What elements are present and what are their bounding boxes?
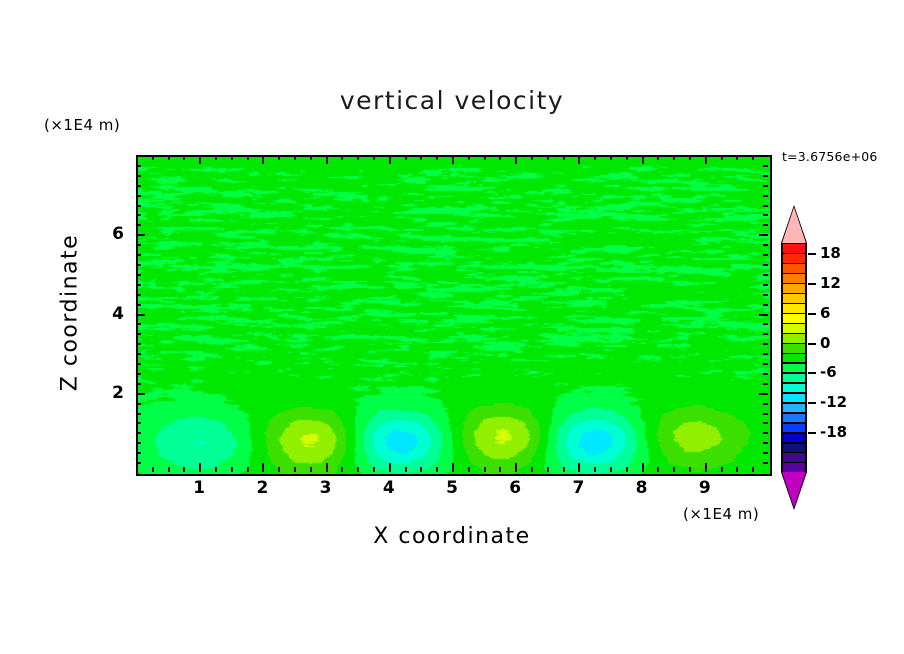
colorbar-band — [781, 243, 807, 254]
colorbar-band-divider — [781, 323, 807, 324]
colorbar-tick — [808, 432, 816, 434]
colorbar-band — [781, 313, 807, 324]
x-tick — [168, 467, 170, 472]
y-tick — [763, 264, 768, 266]
x-tick — [262, 155, 264, 164]
x-tick — [673, 467, 675, 472]
colorbar-tick-label: -12 — [820, 393, 847, 411]
x-tick — [389, 155, 391, 164]
x-tick — [626, 155, 628, 160]
x-tick — [278, 155, 280, 160]
colorbar-band-divider — [781, 412, 807, 413]
page-title: vertical velocity — [0, 86, 904, 115]
y-tick — [136, 393, 145, 395]
colorbar-band — [781, 442, 807, 453]
colorbar-band — [781, 452, 807, 463]
colorbar-tick — [808, 343, 816, 345]
x-tick — [547, 467, 549, 472]
x-tick — [578, 155, 580, 164]
x-tick — [183, 467, 185, 472]
colorbar-tick — [808, 283, 816, 285]
colorbar-tick-label: 6 — [820, 304, 830, 322]
y-tick — [136, 343, 141, 345]
colorbar-band-divider — [781, 273, 807, 274]
y-tick — [136, 224, 141, 226]
x-tick — [642, 463, 644, 472]
x-tick-label: 3 — [306, 478, 346, 498]
x-tick — [168, 155, 170, 160]
x-tick-label: 2 — [242, 478, 282, 498]
x-tick — [484, 155, 486, 160]
x-tick — [499, 467, 501, 472]
x-tick — [199, 155, 201, 164]
y-tick — [763, 205, 768, 207]
y-tick — [136, 422, 141, 424]
colorbar-band-divider — [781, 253, 807, 254]
x-tick — [468, 467, 470, 472]
x-tick — [215, 467, 217, 472]
x-axis-unit-label: (×1E4 m) — [683, 505, 759, 523]
y-tick — [763, 383, 768, 385]
colorbar-band-divider — [781, 432, 807, 433]
x-tick — [357, 155, 359, 160]
x-tick — [152, 467, 154, 472]
x-tick — [436, 155, 438, 160]
x-tick — [689, 467, 691, 472]
y-tick — [136, 363, 141, 365]
z-axis-unit-label: (×1E4 m) — [44, 116, 120, 134]
colorbar-tick-label: 18 — [820, 244, 841, 262]
colorbar-tick — [808, 402, 816, 404]
y-axis-title: Z coordinate — [58, 218, 83, 408]
colorbar-band — [781, 333, 807, 344]
x-tick — [610, 467, 612, 472]
x-tick — [721, 467, 723, 472]
x-tick — [405, 467, 407, 472]
colorbar-tick — [808, 313, 816, 315]
y-tick — [763, 165, 768, 167]
y-tick — [136, 432, 141, 434]
y-tick — [763, 363, 768, 365]
y-tick — [136, 383, 141, 385]
y-tick — [136, 442, 141, 444]
colorbar-band — [781, 422, 807, 433]
x-axis-title: X coordinate — [136, 524, 768, 549]
x-tick — [563, 467, 565, 472]
x-tick-label: 5 — [432, 478, 472, 498]
x-tick — [326, 155, 328, 164]
x-tick — [705, 155, 707, 164]
x-tick — [705, 463, 707, 472]
x-tick — [752, 467, 754, 472]
colorbar-band-divider — [781, 313, 807, 314]
x-tick — [278, 467, 280, 472]
y-tick — [759, 234, 768, 236]
y-tick — [763, 284, 768, 286]
colorbar-band-divider — [781, 382, 807, 383]
x-tick — [594, 155, 596, 160]
x-tick — [452, 155, 454, 164]
x-tick — [689, 155, 691, 160]
plot-frame — [136, 155, 772, 476]
colorbar-band-divider — [781, 333, 807, 334]
x-tick — [736, 155, 738, 160]
y-tick — [136, 413, 141, 415]
x-tick-label: 8 — [622, 478, 662, 498]
colorbar-band — [781, 432, 807, 443]
colorbar-band — [781, 382, 807, 393]
y-tick — [759, 393, 768, 395]
y-tick — [136, 294, 141, 296]
y-tick — [763, 304, 768, 306]
x-tick — [626, 467, 628, 472]
colorbar-tick — [808, 372, 816, 374]
colorbar-band — [781, 402, 807, 413]
x-tick — [531, 467, 533, 472]
y-tick — [763, 373, 768, 375]
x-tick — [373, 467, 375, 472]
x-tick — [657, 155, 659, 160]
colorbar-tick — [808, 253, 816, 255]
y-tick — [763, 353, 768, 355]
colorbar-band — [781, 412, 807, 423]
x-tick — [452, 463, 454, 472]
colorbar-band — [781, 372, 807, 383]
x-tick — [294, 467, 296, 472]
y-tick — [136, 185, 141, 187]
y-tick — [136, 175, 141, 177]
y-tick — [136, 452, 141, 454]
x-tick — [436, 467, 438, 472]
colorbar-band-divider — [781, 372, 807, 373]
y-tick — [136, 353, 141, 355]
y-tick — [136, 304, 141, 306]
x-tick — [310, 155, 312, 160]
colorbar-band-divider — [781, 243, 807, 244]
y-tick — [763, 244, 768, 246]
y-tick — [136, 234, 145, 236]
x-tick — [610, 155, 612, 160]
x-tick — [373, 155, 375, 160]
x-tick-label: 1 — [179, 478, 219, 498]
x-tick — [736, 467, 738, 472]
x-tick — [341, 467, 343, 472]
x-tick — [578, 463, 580, 472]
y-tick — [763, 274, 768, 276]
y-tick — [763, 422, 768, 424]
y-tick — [763, 432, 768, 434]
x-tick — [515, 155, 517, 164]
x-tick — [468, 155, 470, 160]
y-tick — [136, 284, 141, 286]
x-tick-label: 9 — [685, 478, 725, 498]
colorbar-band-divider — [781, 392, 807, 393]
colorbar-band — [781, 293, 807, 304]
y-tick — [763, 195, 768, 197]
x-tick — [594, 467, 596, 472]
x-tick — [547, 155, 549, 160]
colorbar-band — [781, 303, 807, 314]
colorbar-band — [781, 253, 807, 264]
y-tick — [136, 165, 141, 167]
x-tick — [247, 155, 249, 160]
y-tick — [763, 185, 768, 187]
x-tick — [499, 155, 501, 160]
y-tick — [763, 403, 768, 405]
colorbar-band-divider — [781, 422, 807, 423]
colorbar-band — [781, 353, 807, 364]
colorbar-band-divider — [781, 343, 807, 344]
x-tick — [642, 155, 644, 164]
y-tick — [136, 333, 141, 335]
x-tick — [262, 463, 264, 472]
y-tick — [136, 314, 145, 316]
colorbar-band-divider — [781, 283, 807, 284]
y-tick — [136, 214, 141, 216]
y-tick — [136, 254, 141, 256]
colorbar-under-arrow — [781, 472, 807, 510]
y-tick-label: 4 — [94, 304, 124, 324]
y-tick — [136, 274, 141, 276]
y-tick — [763, 442, 768, 444]
x-tick — [563, 155, 565, 160]
colorbar-band-divider — [781, 303, 807, 304]
x-tick — [326, 463, 328, 472]
x-tick — [357, 467, 359, 472]
colorbar-band — [781, 392, 807, 403]
colorbar-band — [781, 462, 807, 473]
x-tick — [420, 467, 422, 472]
x-tick-label: 6 — [495, 478, 535, 498]
colorbar-tick-label: -18 — [820, 423, 847, 441]
colorbar-band-divider — [781, 442, 807, 443]
colorbar-band-divider — [781, 402, 807, 403]
y-tick — [763, 175, 768, 177]
x-tick — [215, 155, 217, 160]
y-tick — [763, 343, 768, 345]
y-tick — [763, 323, 768, 325]
time-stamp-annotation: t=3.6756e+06 — [782, 149, 878, 164]
y-tick — [763, 333, 768, 335]
x-tick — [405, 155, 407, 160]
y-tick — [759, 314, 768, 316]
y-tick — [763, 254, 768, 256]
y-tick — [136, 244, 141, 246]
x-tick — [310, 467, 312, 472]
x-tick — [721, 155, 723, 160]
colorbar — [781, 205, 807, 510]
y-tick — [136, 373, 141, 375]
y-tick-label: 2 — [94, 383, 124, 403]
y-tick — [763, 294, 768, 296]
y-tick — [136, 462, 141, 464]
colorbar-band-divider — [781, 362, 807, 363]
colorbar-band — [781, 343, 807, 354]
colorbar-tick-label: 0 — [820, 334, 830, 352]
x-tick-label: 7 — [558, 478, 598, 498]
x-tick — [420, 155, 422, 160]
colorbar-over-arrow — [781, 205, 807, 243]
x-tick — [657, 467, 659, 472]
y-tick — [136, 205, 141, 207]
x-tick — [673, 155, 675, 160]
colorbar-band-divider — [781, 263, 807, 264]
x-tick — [752, 155, 754, 160]
x-tick — [152, 155, 154, 160]
x-tick — [484, 467, 486, 472]
y-tick — [136, 195, 141, 197]
colorbar-band — [781, 283, 807, 294]
colorbar-band — [781, 362, 807, 373]
x-tick — [247, 467, 249, 472]
x-tick — [183, 155, 185, 160]
colorbar-tick-label: 12 — [820, 274, 841, 292]
colorbar-band-divider — [781, 452, 807, 453]
x-tick — [231, 467, 233, 472]
y-tick-label: 6 — [94, 224, 124, 244]
colorbar-band-divider — [781, 293, 807, 294]
y-tick — [136, 264, 141, 266]
y-tick — [136, 403, 141, 405]
colorbar-band-divider — [781, 462, 807, 463]
y-tick — [763, 452, 768, 454]
x-tick — [294, 155, 296, 160]
x-tick — [231, 155, 233, 160]
colorbar-band — [781, 263, 807, 274]
figure-canvas: vertical velocity (×1E4 m) (×1E4 m) X co… — [0, 0, 904, 654]
contour-field — [138, 157, 770, 474]
colorbar-band — [781, 273, 807, 284]
colorbar-band-divider — [781, 353, 807, 354]
y-tick — [136, 323, 141, 325]
x-tick — [199, 463, 201, 472]
y-tick — [763, 462, 768, 464]
x-tick — [341, 155, 343, 160]
x-tick — [531, 155, 533, 160]
x-tick — [515, 463, 517, 472]
y-tick — [763, 224, 768, 226]
x-tick-label: 4 — [369, 478, 409, 498]
x-tick — [389, 463, 391, 472]
colorbar-tick-label: -6 — [820, 363, 837, 381]
y-tick — [763, 214, 768, 216]
colorbar-band — [781, 323, 807, 334]
y-tick — [763, 413, 768, 415]
